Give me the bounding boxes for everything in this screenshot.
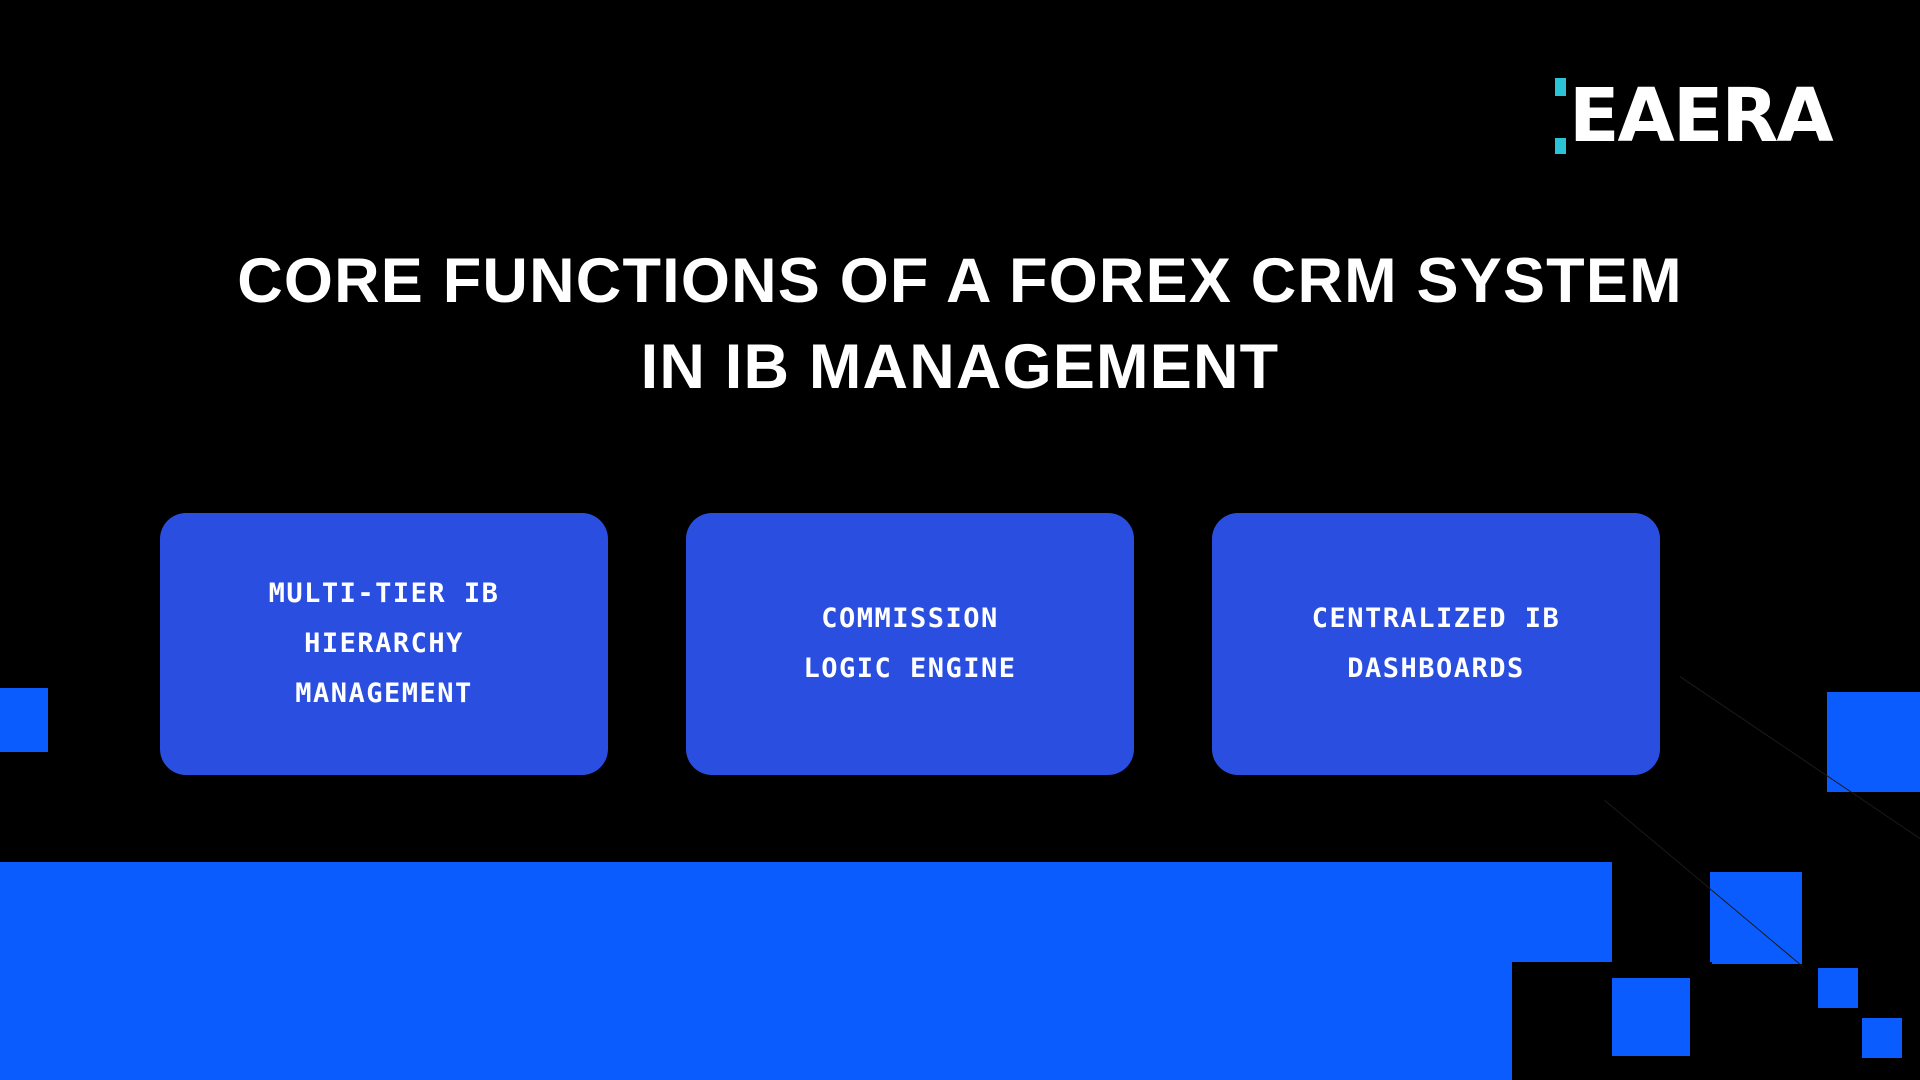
decorative-square-right-middle [1710,872,1802,964]
logo-accent-square-top-icon [1555,78,1566,96]
decorative-square-small-b [1862,1018,1902,1058]
page-title: CORE FUNCTIONS OF A FOREX CRM SYSTEM IN … [0,238,1920,410]
feature-card-commission-logic-engine[interactable]: COMMISSION LOGIC ENGINE [686,513,1134,775]
feature-card-label: CENTRALIZED IB DASHBOARDS [1312,594,1561,694]
decorative-square-left [0,688,48,752]
feature-card-row: MULTI-TIER IB HIERARCHY MANAGEMENT COMMI… [160,513,1760,775]
page-title-line-2: IN IB MANAGEMENT [0,324,1920,410]
logo-wordmark: EAERA [1569,78,1832,154]
logo-accent-marks-icon [1549,78,1565,154]
decorative-square-right-upper [1827,692,1920,792]
page-title-line-1: CORE FUNCTIONS OF A FOREX CRM SYSTEM [0,238,1920,324]
logo-accent-square-bottom-icon [1555,138,1566,154]
feature-card-multi-tier-ib-hierarchy-management[interactable]: MULTI-TIER IB HIERARCHY MANAGEMENT [160,513,608,775]
decorative-square-small-a [1818,968,1858,1008]
feature-card-centralized-ib-dashboards[interactable]: CENTRALIZED IB DASHBOARDS [1212,513,1660,775]
slide-canvas: EAERA CORE FUNCTIONS OF A FOREX CRM SYST… [0,0,1920,1080]
feature-card-label: MULTI-TIER IB HIERARCHY MANAGEMENT [269,569,500,719]
feature-card-label: COMMISSION LOGIC ENGINE [803,594,1016,694]
brand-logo: EAERA [1549,78,1832,154]
bottom-blue-band [0,862,1612,1080]
decorative-square-in-notch [1612,978,1690,1056]
